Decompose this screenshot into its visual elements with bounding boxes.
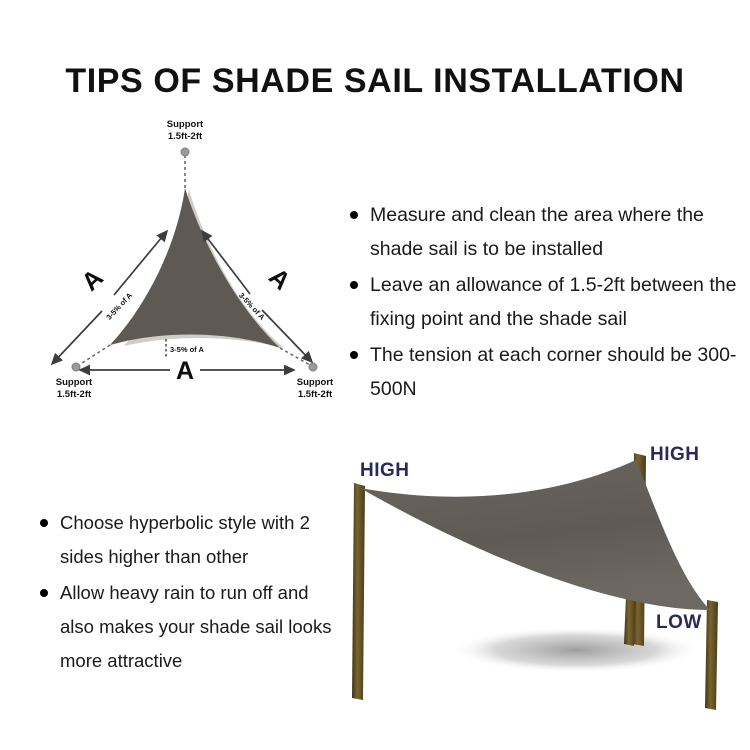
- hyperbolic-shade-sail-diagram: HIGH HIGH LOW: [338, 428, 742, 728]
- triangle-shade-sail-diagram: A 3-5% of A A 3-5% of A A 3-5% of A Supp…: [22, 112, 352, 412]
- top-anchor-dot: [181, 148, 189, 156]
- list-item: Allow heavy rain to run off and also mak…: [40, 576, 345, 678]
- left-side-dimension-letter: A: [76, 264, 108, 297]
- support-sublabel-bottom-left: 1.5ft-2ft: [57, 389, 92, 400]
- sail-fabric-hyperbolic: [360, 460, 710, 610]
- installation-tips-list-bottom: Choose hyperbolic style with 2 sides hig…: [40, 506, 345, 680]
- bottom-left-support-tether: [79, 345, 110, 365]
- bottom-right-support-tether: [280, 348, 310, 365]
- list-item: The tension at each corner should be 300…: [350, 338, 740, 406]
- installation-tips-list-top: Measure and clean the area where the sha…: [350, 198, 740, 408]
- left-side-percent-note: 3-5% of A: [104, 290, 134, 321]
- list-item: Leave an allowance of 1.5-2ft between th…: [350, 268, 740, 336]
- support-sublabel-bottom-right: 1.5ft-2ft: [298, 389, 333, 400]
- ground-shadow: [451, 627, 701, 673]
- list-item: Choose hyperbolic style with 2 sides hig…: [40, 506, 345, 574]
- right-side-dimension-letter: A: [263, 263, 295, 296]
- support-label-top: Support: [167, 119, 204, 130]
- support-label-bottom-right: Support: [297, 377, 334, 388]
- left-side-arrow-down: [52, 311, 102, 364]
- corner-label-right-low: LOW: [656, 612, 702, 633]
- page-title: TIPS OF SHADE SAIL INSTALLATION: [0, 62, 750, 101]
- post-left-high: [352, 483, 365, 700]
- bottom-left-anchor-dot: [72, 363, 80, 371]
- list-item: Measure and clean the area where the sha…: [350, 198, 740, 266]
- corner-label-left-high: HIGH: [360, 460, 410, 481]
- infographic-page: TIPS OF SHADE SAIL INSTALLATION A 3-5% o…: [0, 0, 750, 750]
- post-right-low: [705, 600, 718, 710]
- support-label-bottom-left: Support: [56, 377, 93, 388]
- bottom-dimension-letter: A: [176, 357, 194, 385]
- support-sublabel-top: 1.5ft-2ft: [168, 131, 203, 142]
- bottom-sag-note: 3-5% of A: [170, 345, 204, 354]
- post-middle-short: [624, 596, 636, 646]
- bottom-right-anchor-dot: [309, 363, 317, 371]
- corner-label-right-high: HIGH: [650, 444, 700, 465]
